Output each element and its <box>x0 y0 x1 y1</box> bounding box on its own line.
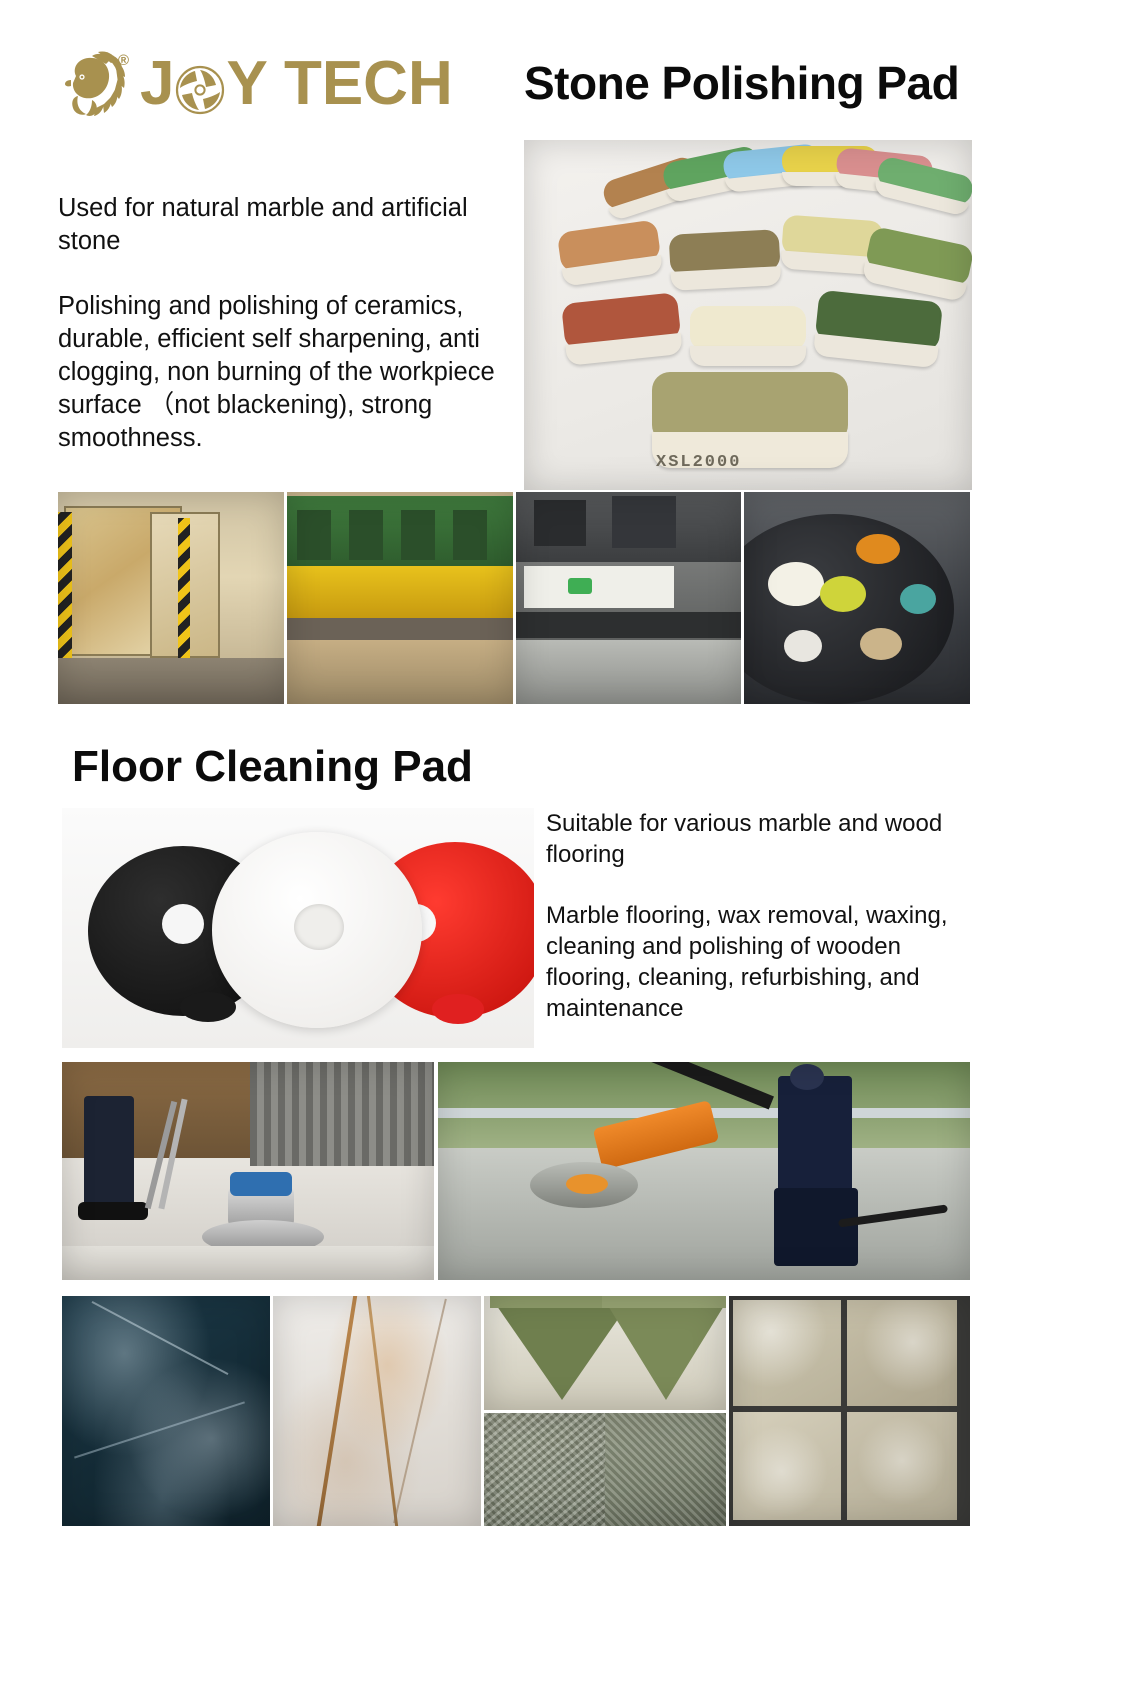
stone-conveyor-photo <box>516 492 742 704</box>
floor-description-paragraph-1: Suitable for various marble and wood flo… <box>546 808 966 870</box>
stone-samples-gallery <box>62 1296 970 1526</box>
beige-tile-panel-sample <box>729 1296 970 1526</box>
registered-trademark-icon: ® <box>118 52 129 69</box>
stone-polishing-pads-photo: XSL2000 <box>524 140 972 490</box>
polishing-head-disc-photo <box>744 492 970 704</box>
floor-cleaning-pads-photo <box>62 808 534 1048</box>
brand-logo: ® J Y TECH <box>62 50 453 118</box>
floor-buffer-machine-in-use-photo <box>62 1062 434 1280</box>
brand-wordmark: J Y TECH <box>140 52 453 116</box>
page-title: Stone Polishing Pad <box>524 56 959 110</box>
saw-blade-icon <box>175 63 225 113</box>
brand-text-first: J <box>140 52 174 116</box>
brand-text-second: Y TECH <box>226 52 452 116</box>
stone-pad-description: Used for natural marble and artificial s… <box>58 192 528 455</box>
hedgehog-mascot-icon: ® <box>62 50 132 118</box>
description-paragraph-2: Polishing and polishing of ceramics, dur… <box>58 290 528 455</box>
catalog-page: ® J Y TECH <box>0 0 1126 1689</box>
textured-stone-closeup-sample <box>484 1413 726 1527</box>
dark-blue-marble-sample <box>62 1296 270 1526</box>
floor-application-gallery <box>62 1062 970 1280</box>
white-veined-marble-sample <box>273 1296 481 1526</box>
green-polished-edge-sample <box>484 1296 726 1410</box>
floor-cleaning-pad-title: Floor Cleaning Pad <box>72 742 473 792</box>
description-paragraph-1: Used for natural marble and artificial s… <box>58 192 528 258</box>
page-header: ® J Y TECH <box>0 48 1126 138</box>
floor-description-paragraph-2: Marble flooring, wax removal, waxing, cl… <box>546 900 966 1024</box>
floor-pad-description: Suitable for various marble and wood flo… <box>546 808 966 1024</box>
floor-scrubbing-operator-photo <box>438 1062 970 1280</box>
marble-slab-warehouse-photo <box>58 492 284 704</box>
stone-sample-stack <box>484 1296 726 1526</box>
polishing-line-machine-photo <box>287 492 513 704</box>
stone-application-gallery <box>58 492 970 704</box>
